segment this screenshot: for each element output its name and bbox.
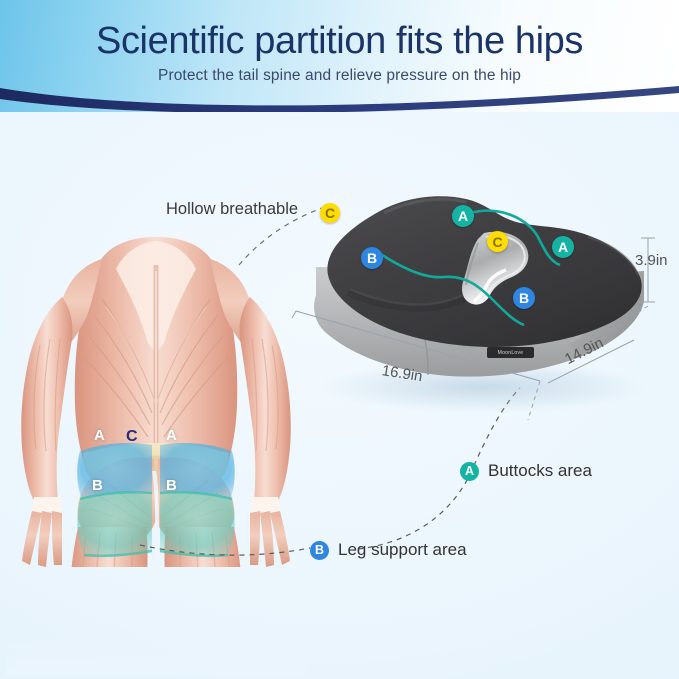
dimension-height: 3.9in xyxy=(635,252,668,269)
anatomy-label-b-right: B xyxy=(166,477,177,494)
legend-dot-a: A xyxy=(460,462,479,481)
infographic-canvas: Scientific partition fits the hips Prote… xyxy=(0,0,679,679)
marker-a-right: A xyxy=(552,236,574,258)
marker-a-upper: A xyxy=(452,205,474,227)
legend-item-b: B Leg support area xyxy=(310,540,467,560)
legend-item-a: A Buttocks area xyxy=(460,461,592,481)
anatomy-label-c-center: C xyxy=(126,428,138,446)
anatomy-zone-a-left xyxy=(77,443,152,499)
anatomy-label-a-right: A xyxy=(166,427,177,444)
header-banner: Scientific partition fits the hips Prote… xyxy=(0,0,679,112)
marker-c-callout: C xyxy=(320,203,340,223)
legend-dot-b: B xyxy=(310,541,329,560)
brand-tag: MoonLove xyxy=(487,347,534,358)
marker-b-lower: B xyxy=(513,287,535,309)
legend-label-a: Buttocks area xyxy=(488,461,592,481)
page-title: Scientific partition fits the hips xyxy=(0,18,679,64)
anatomy-label-a-left: A xyxy=(94,427,105,444)
page-subtitle: Protect the tail spine and relieve press… xyxy=(0,67,679,85)
anatomy-label-b-left: B xyxy=(92,477,103,494)
brand-tag-label: MoonLove xyxy=(498,350,524,356)
anatomy-illustration xyxy=(6,235,306,675)
hollow-breathable-label: Hollow breathable xyxy=(166,200,298,219)
marker-b-left: B xyxy=(361,247,383,269)
marker-c-hollow: C xyxy=(487,231,508,252)
legend-label-b: Leg support area xyxy=(338,540,467,560)
seat-cushion-product xyxy=(288,175,679,425)
